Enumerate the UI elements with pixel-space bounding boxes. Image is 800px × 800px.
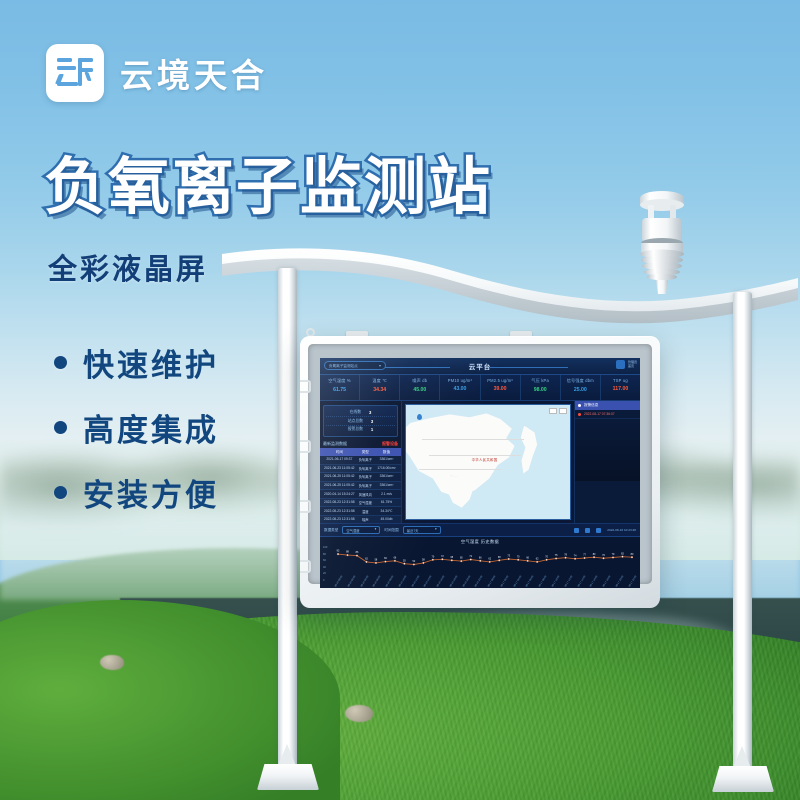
table-cell: 2021-06-25 11:05:42 — [322, 483, 357, 488]
feature-label: 快速维护 — [83, 340, 219, 385]
metric-value: 43.00 — [440, 386, 479, 392]
feature-item: 安装方便 — [54, 470, 219, 515]
table-cell: 温度 — [357, 509, 374, 514]
table-cell: 负氧离子 — [357, 466, 374, 471]
table-row[interactable]: 2021-06-25 11:05:42负氧离子3361/cm³ — [320, 473, 401, 482]
dashboard-body: 在线数 3 站点总数 3 报警总数 1 最新监测数据 报警设备 时间 类型 — [320, 401, 640, 523]
svg-text:73: 73 — [507, 555, 510, 558]
svg-text:66: 66 — [479, 556, 482, 559]
chart-toolbar: 数据类型 空气湿度 时间范围 最近7天 2022-08-16 10:23:48 — [320, 524, 640, 537]
metric-tile[interactable]: PM2.5 ug/m³ 39.00 — [481, 375, 521, 400]
count-value: 3 — [371, 419, 373, 424]
chart-date-text: 2022-08-16 10:23:48 — [607, 528, 636, 532]
table-cell: 空气湿度 — [357, 500, 374, 505]
svg-text:65: 65 — [460, 557, 463, 560]
y-tick-label: 60 — [323, 559, 327, 562]
page-title: 负氧离子监测站 — [44, 136, 492, 226]
table-cell: 负氧离子 — [357, 457, 374, 462]
alarm-panel: 报警信息 2022-08-17 07:36:07 — [574, 401, 640, 523]
subtitle: 全彩液晶屏 — [48, 246, 208, 288]
chart-range-select[interactable]: 最近7天 — [403, 526, 441, 534]
table-column-headers: 时间 类型 数值 — [320, 448, 401, 456]
chart-type-label: 数据类型 — [324, 528, 338, 533]
counts-box: 在线数 3 站点总数 3 报警总数 1 — [323, 405, 398, 437]
table-cell: 2021-06-17 09:37 — [322, 457, 357, 462]
support-pole-right — [733, 292, 752, 770]
alarm-dot-icon — [578, 413, 581, 416]
metric-label: 噪声 db — [400, 378, 439, 384]
alarm-badge[interactable]: 报警设备 — [382, 441, 398, 447]
table-cell: 3361/cm³ — [374, 457, 399, 462]
metric-tile[interactable]: 信号强度 dbm 25.00 — [561, 375, 601, 400]
brand-name: 云境天合 — [120, 49, 268, 97]
zoom-in-icon[interactable] — [559, 408, 567, 414]
metric-value: 34.34 — [360, 387, 399, 393]
table-cell: 3361/cm³ — [374, 483, 399, 488]
metric-tile[interactable]: TSP ug 117.00 — [601, 375, 640, 400]
svg-text:66: 66 — [526, 556, 529, 559]
lcd-dashboard-screen[interactable]: 云平台 负氧离子监测站点 管理员 首页 空气湿度 % 61.75 温度 ℃ 34… — [320, 358, 640, 588]
column-header: 时间 — [322, 450, 357, 455]
alarm-panel-header: 报警信息 — [575, 401, 640, 410]
table-cell: 3361/cm³ — [374, 474, 399, 479]
cabinet-latch — [300, 440, 311, 453]
metric-value: 117.00 — [601, 386, 640, 392]
table-cell: 2022-08-23 12:31:58 — [322, 509, 357, 514]
metric-value: 25.00 — [561, 387, 600, 393]
support-pole-left — [278, 268, 297, 768]
metric-label: 空气湿度 % — [320, 378, 359, 384]
count-label: 站点总数 — [348, 419, 363, 424]
table-cell: 2.1 m/s — [374, 492, 399, 497]
svg-text:76: 76 — [602, 554, 605, 557]
svg-text:55: 55 — [403, 559, 406, 562]
metric-label: 气压 kPa — [521, 378, 560, 384]
svg-text:71: 71 — [469, 555, 472, 558]
feature-list: 快速维护 高度集成 安装方便 — [54, 340, 219, 535]
feature-item: 快速维护 — [54, 340, 219, 385]
site-selector[interactable]: 负氧离子监测站点 — [324, 361, 386, 370]
svg-text:63: 63 — [384, 557, 387, 560]
column-header: 类型 — [357, 450, 374, 455]
chart-plot-area[interactable]: 100806040200 928886625863665552587072686… — [334, 546, 636, 588]
table-icon[interactable] — [596, 528, 601, 533]
base-gusset — [733, 746, 751, 768]
table-cell: 1716.00/cm³ — [374, 466, 399, 471]
svg-text:58: 58 — [375, 559, 378, 562]
svg-text:86: 86 — [356, 551, 359, 554]
avatar — [616, 360, 625, 369]
bar-chart-icon[interactable] — [585, 528, 590, 533]
flange-base-left — [257, 764, 319, 790]
svg-text:62: 62 — [536, 557, 539, 560]
metric-tile[interactable]: 噪声 db 45.00 — [400, 375, 440, 400]
chart-icon-group[interactable]: 2022-08-16 10:23:48 — [574, 528, 636, 533]
metric-label: PM2.5 ug/m³ — [481, 378, 520, 383]
metric-label: 温度 ℃ — [360, 378, 399, 384]
metrics-row: 空气湿度 % 61.75 温度 ℃ 34.34 噪声 db 45.00 PM10… — [320, 375, 640, 401]
svg-text:92: 92 — [337, 550, 340, 553]
svg-text:68: 68 — [450, 556, 453, 559]
table-row[interactable]: 2022-08-23 12:31:58温度34.34℃ — [320, 507, 401, 516]
table-row[interactable]: 2022-08-23 12:31:58空气湿度61.75% — [320, 499, 401, 508]
svg-text:88: 88 — [346, 551, 349, 554]
table-cell: 34.34℃ — [374, 509, 399, 514]
dashboard-header: 云平台 负氧离子监测站点 管理员 首页 — [320, 358, 640, 375]
svg-text:58: 58 — [422, 559, 425, 562]
line-chart-icon[interactable] — [574, 528, 579, 533]
table-cell: 负氧离子 — [357, 483, 374, 488]
chart-type-select[interactable]: 空气湿度 — [342, 526, 380, 534]
feature-item: 高度集成 — [54, 405, 219, 450]
map-region-label: 中华人民共和国 — [472, 457, 498, 462]
table-row[interactable]: 2021-06-23 11:05:42负氧离子1716.00/cm³ — [320, 465, 401, 474]
flange-base-right — [712, 766, 774, 792]
table-header-bar: 最新监测数据 报警设备 — [320, 440, 401, 448]
svg-text:82: 82 — [621, 552, 624, 555]
brand-lockup: 云境天合 — [46, 44, 268, 102]
svg-text:72: 72 — [441, 555, 444, 558]
user-area[interactable]: 管理员 首页 — [616, 360, 637, 369]
metric-value: 45.00 — [400, 387, 439, 393]
metric-tile[interactable]: 气压 kPa 98.00 — [521, 375, 561, 400]
china-map[interactable]: 中华人民共和国 — [405, 404, 571, 520]
count-row: 站点总数 3 — [326, 417, 395, 425]
count-row: 报警总数 1 — [326, 426, 395, 433]
bullet-icon — [54, 486, 67, 499]
svg-text:70: 70 — [517, 555, 520, 558]
y-tick-label: 40 — [323, 566, 327, 569]
table-cell: 2021-06-25 11:05:42 — [322, 474, 357, 479]
metric-label: TSP ug — [601, 378, 640, 383]
count-label: 报警总数 — [348, 427, 363, 432]
table-title: 最新监测数据 — [323, 441, 347, 447]
y-tick-label: 80 — [323, 553, 327, 556]
table-cell: 2022-08-23 12:31:58 — [322, 517, 357, 522]
y-tick-label: 0 — [323, 579, 327, 582]
alarm-time: 2022-08-17 07:36:07 — [584, 412, 615, 416]
table-cell: 噪声 — [357, 517, 374, 522]
zr-monogram-icon — [46, 44, 104, 102]
base-gusset — [278, 744, 296, 766]
y-tick-label: 20 — [323, 572, 327, 575]
table-cell: 风速风向 — [357, 492, 374, 497]
table-row[interactable]: 2021-06-17 09:37负氧离子3361/cm³ — [320, 456, 401, 465]
peninsula-shape — [514, 426, 547, 476]
svg-text:75: 75 — [555, 554, 558, 557]
table-row[interactable]: 2020-04-14 15:24:27风速风向2.1 m/s — [320, 490, 401, 499]
svg-text:80: 80 — [593, 553, 596, 556]
svg-text:52: 52 — [413, 560, 416, 563]
chart-section: 数据类型 空气湿度 时间范围 最近7天 2022-08-16 10:23:48 … — [320, 523, 640, 588]
bullet-icon — [54, 356, 67, 369]
map-marker-icon[interactable] — [417, 414, 422, 420]
svg-text:68: 68 — [498, 556, 501, 559]
table-row[interactable]: 2021-06-25 11:05:42负氧离子3361/cm³ — [320, 482, 401, 491]
alarm-row[interactable]: 2022-08-17 07:36:07 — [575, 410, 640, 419]
count-row: 在线数 3 — [326, 409, 395, 417]
metric-value: 39.00 — [481, 386, 520, 392]
alarm-panel-empty — [575, 419, 640, 481]
svg-text:79: 79 — [612, 553, 615, 556]
svg-text:80: 80 — [631, 553, 634, 556]
chart-title: 空气湿度 历史数据 — [320, 539, 640, 545]
svg-text:78: 78 — [564, 553, 567, 556]
svg-text:62: 62 — [365, 557, 368, 560]
metric-value: 98.00 — [521, 387, 560, 393]
table-cell: 61.75% — [374, 500, 399, 505]
feature-label: 安装方便 — [83, 470, 219, 515]
user-menu-home[interactable]: 首页 — [628, 365, 637, 369]
table-cell: 2022-08-23 12:31:58 — [322, 500, 357, 505]
metric-value: 61.75 — [320, 387, 359, 393]
left-panel: 在线数 3 站点总数 3 报警总数 1 最新监测数据 报警设备 时间 类型 — [320, 401, 402, 523]
table-cell: 2020-04-14 15:24:27 — [322, 492, 357, 497]
table-cell: 负氧离子 — [357, 474, 374, 479]
ultrasonic-weather-sensor-icon — [626, 186, 698, 294]
y-tick-label: 100 — [323, 546, 327, 549]
metric-tile[interactable]: 温度 ℃ 34.34 — [360, 375, 400, 400]
svg-text:62: 62 — [488, 557, 491, 560]
table-cell: 2021-06-23 11:05:42 — [322, 466, 357, 471]
chart-x-axis: 08-16 00:0008-16 02:0008-16 04:0008-16 0… — [334, 586, 636, 588]
alarm-panel-title: 报警信息 — [584, 403, 598, 408]
chart-y-axis: 100806040200 — [323, 546, 327, 582]
count-value: 1 — [371, 427, 373, 432]
svg-text:70: 70 — [432, 555, 435, 558]
table-cell: 45.00db — [374, 517, 399, 522]
map-controls[interactable] — [549, 408, 567, 414]
column-header: 数值 — [374, 450, 399, 455]
svg-text:77: 77 — [583, 554, 586, 557]
cabinet-latch — [300, 560, 311, 573]
count-value: 3 — [369, 410, 371, 415]
cabinet-latch — [300, 500, 311, 513]
metric-tile[interactable]: 空气湿度 % 61.75 — [320, 375, 360, 400]
zoom-out-icon[interactable] — [549, 408, 557, 414]
cabinet-latch — [300, 380, 311, 393]
chart-range-label: 时间范围 — [384, 528, 398, 533]
metric-label: PM10 ug/m³ — [440, 378, 479, 383]
metric-label: 信号强度 dbm — [561, 378, 600, 384]
feature-label: 高度集成 — [83, 405, 219, 450]
svg-text:66: 66 — [394, 556, 397, 559]
bullet-icon — [578, 404, 581, 407]
svg-text:74: 74 — [574, 554, 577, 557]
bullet-icon — [54, 421, 67, 434]
metric-tile[interactable]: PM10 ug/m³ 43.00 — [440, 375, 480, 400]
map-container[interactable]: 中华人民共和国 — [402, 401, 574, 523]
svg-text:70: 70 — [545, 555, 548, 558]
count-label: 在线数 — [350, 410, 361, 415]
